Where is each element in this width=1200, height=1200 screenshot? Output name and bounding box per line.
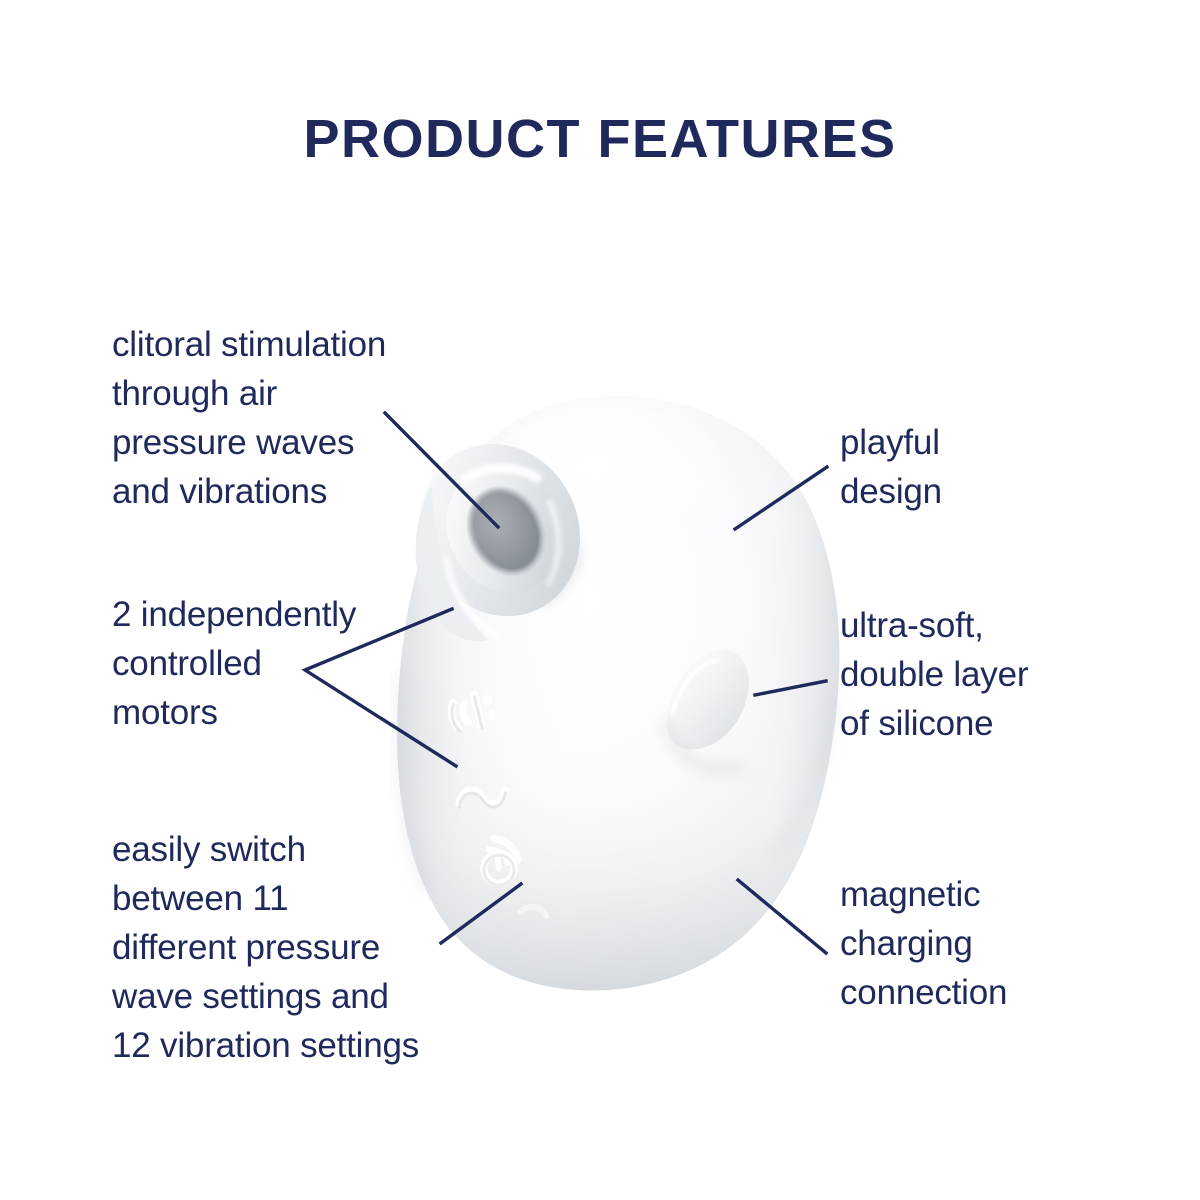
page-title: PRODUCT FEATURES [0, 108, 1200, 170]
callout-silicone: ultra-soft, double layer of silicone [840, 601, 1150, 748]
product-features-page: PRODUCT FEATURES [0, 0, 1200, 1200]
callout-clitoral-stimulation: clitoral stimulation through air pressur… [112, 320, 472, 516]
callout-motors: 2 independently controlled motors [112, 590, 482, 737]
callout-playful-design: playful design [840, 418, 1140, 516]
leader-line-playful [735, 467, 827, 529]
callout-magnetic-charging: magnetic charging connection [840, 870, 1140, 1017]
callout-settings: easily switch between 11 different press… [112, 825, 512, 1070]
leader-line-silicone [755, 681, 826, 695]
leader-line-magnetic [738, 880, 826, 953]
